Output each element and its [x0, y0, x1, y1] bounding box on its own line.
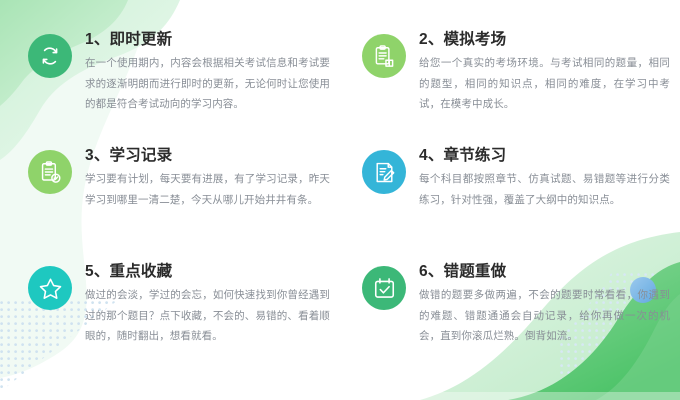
feature-desc-5: 做过的会淡，学过的会忘，如何快速找到你曾经遇到过的那个题目？点下收藏，不会的、易…	[85, 285, 330, 345]
feature-card-3: 3、学习记录 学习要有计划，每天要有进展，有了学习记录，昨天学习到哪里一清二楚，…	[0, 146, 340, 262]
feature-text-3: 3、学习记录 学习要有计划，每天要有进展，有了学习记录，昨天学习到哪里一清二楚，…	[85, 146, 340, 210]
clipboard-book-icon	[362, 34, 406, 78]
feature-desc-3: 学习要有计划，每天要有进展，有了学习记录，昨天学习到哪里一清二楚，今天从哪儿开始…	[85, 169, 330, 209]
feature-text-1: 1、即时更新 在一个使用期内，内容会根据相关考试信息和考试要求的逐渐明朗而进行即…	[85, 30, 340, 114]
feature-card-1: 1、即时更新 在一个使用期内，内容会根据相关考试信息和考试要求的逐渐明朗而进行即…	[0, 30, 340, 146]
feature-title-5: 5、重点收藏	[85, 262, 330, 281]
feature-desc-1: 在一个使用期内，内容会根据相关考试信息和考试要求的逐渐明朗而进行即时的更新，无论…	[85, 53, 330, 113]
feature-text-6: 6、错题重做 做错的题要多做两遍，不会的题要时常看看，你遇到的难题、错题通通会自…	[419, 262, 680, 346]
feature-title-2: 2、模拟考场	[419, 30, 670, 49]
feature-title-6: 6、错题重做	[419, 262, 670, 281]
feature-card-5: 5、重点收藏 做过的会淡，学过的会忘，如何快速找到你曾经遇到过的那个题目？点下收…	[0, 262, 340, 378]
feature-title-3: 3、学习记录	[85, 146, 330, 165]
calendar-check-icon	[362, 266, 406, 310]
feature-card-2: 2、模拟考场 给您一个真实的考场环境。与考试相同的题量，相同的题型，相同的知识点…	[340, 30, 680, 146]
document-pencil-icon	[362, 150, 406, 194]
feature-text-5: 5、重点收藏 做过的会淡，学过的会忘，如何快速找到你曾经遇到过的那个题目？点下收…	[85, 262, 340, 346]
star-icon	[28, 266, 72, 310]
refresh-sync-icon	[28, 34, 72, 78]
feature-title-1: 1、即时更新	[85, 30, 330, 49]
clipboard-check-icon	[28, 150, 72, 194]
feature-card-4: 4、章节练习 每个科目都按照章节、仿真试题、易错题等进行分类练习，针对性强，覆盖…	[340, 146, 680, 262]
feature-list-page: 1、即时更新 在一个使用期内，内容会根据相关考试信息和考试要求的逐渐明朗而进行即…	[0, 0, 680, 400]
feature-text-4: 4、章节练习 每个科目都按照章节、仿真试题、易错题等进行分类练习，针对性强，覆盖…	[419, 146, 680, 210]
feature-desc-2: 给您一个真实的考场环境。与考试相同的题量，相同的题型，相同的知识点，相同的难度，…	[419, 53, 670, 113]
feature-card-6: 6、错题重做 做错的题要多做两遍，不会的题要时常看看，你遇到的难题、错题通通会自…	[340, 262, 680, 378]
feature-desc-6: 做错的题要多做两遍，不会的题要时常看看，你遇到的难题、错题通通会自动记录，给你再…	[419, 285, 670, 345]
feature-text-2: 2、模拟考场 给您一个真实的考场环境。与考试相同的题量，相同的题型，相同的知识点…	[419, 30, 680, 114]
feature-grid: 1、即时更新 在一个使用期内，内容会根据相关考试信息和考试要求的逐渐明朗而进行即…	[0, 0, 680, 400]
feature-desc-4: 每个科目都按照章节、仿真试题、易错题等进行分类练习，针对性强，覆盖了大纲中的知识…	[419, 169, 670, 209]
feature-title-4: 4、章节练习	[419, 146, 670, 165]
